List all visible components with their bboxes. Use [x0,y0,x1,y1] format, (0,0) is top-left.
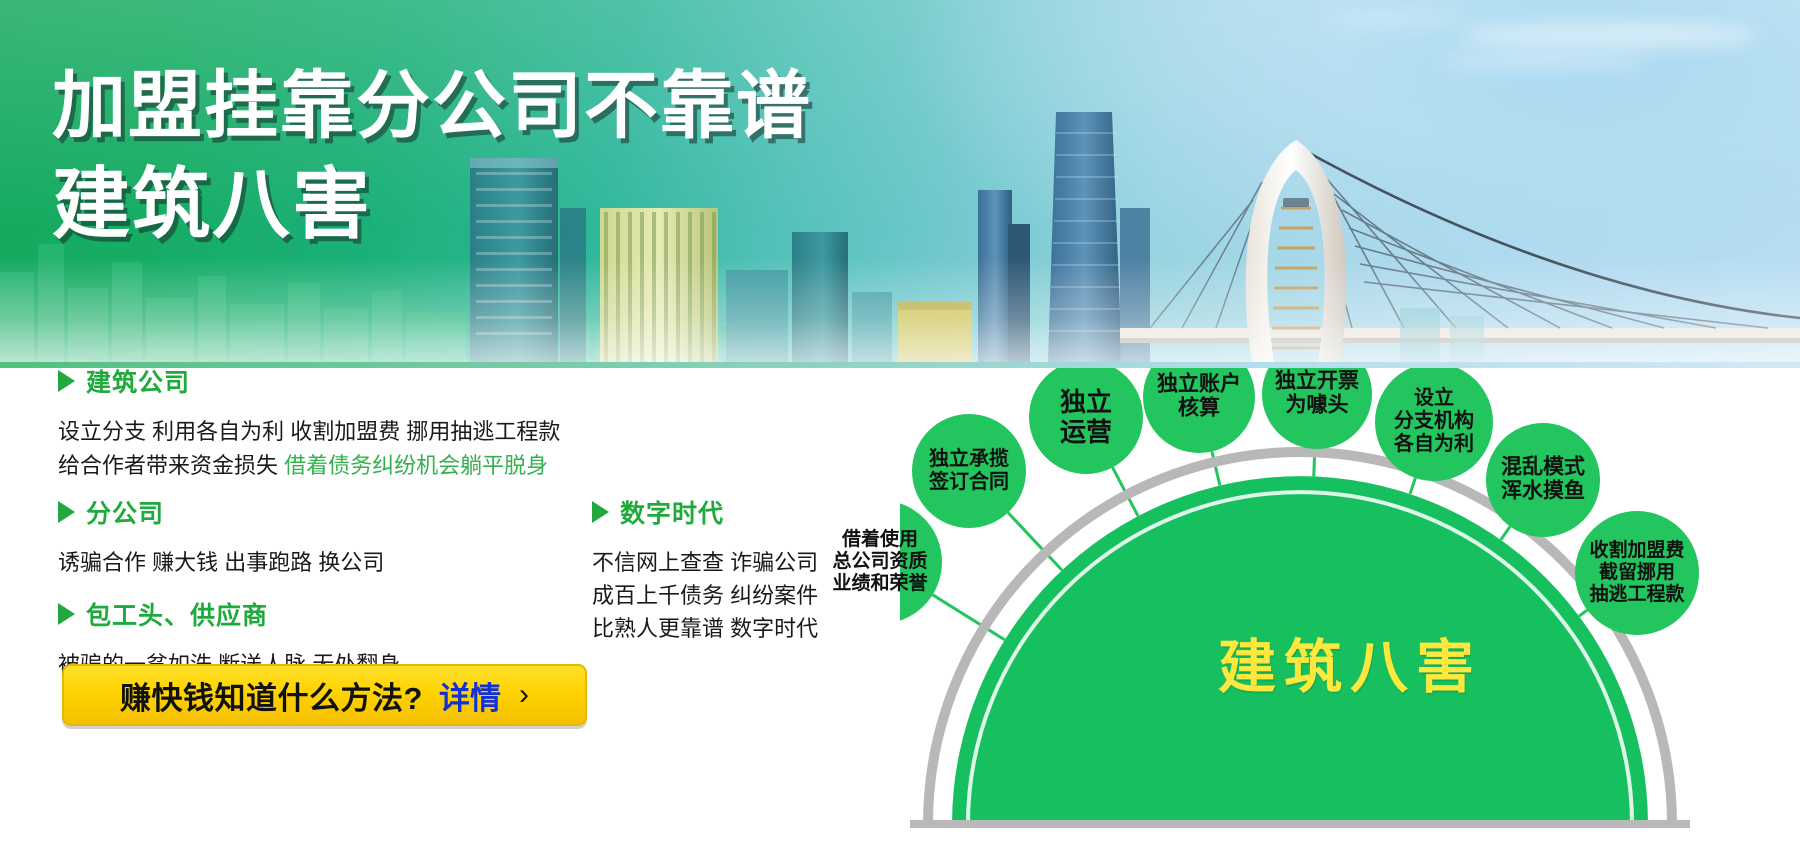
section-title: 数字时代 [620,494,724,530]
hero-banner: 加盟挂靠分公司不靠谱 建筑八害 [0,0,1800,368]
connector-line-b6 [1410,478,1415,494]
cta-label: 赚快钱知道什么方法? [120,673,423,718]
chevron-right-icon: › [519,680,529,710]
body-line: 设立分支 利用各自为利 收割加盟费 挪用抽逃工程款 [58,415,560,449]
section-title: 分公司 [86,494,164,530]
section-body: 不信网上查查 诈骗公司 成百上千债务 纠纷案件 比熟人更靠谱 数字时代 [592,546,818,645]
cta-detail-link[interactable]: 详情 [439,673,501,718]
section-digital-era: 数字时代 不信网上查查 诈骗公司 成百上千债务 纠纷案件 比熟人更靠谱 数字时代 [592,494,818,645]
triangle-bullet-icon [592,501,609,523]
eight-harms-diagram: 借着使用 总公司资质 业绩和荣誉独立承揽 签订合同独立 运营独立账户 核算独立开… [900,368,1800,844]
bubble-b2[interactable] [912,414,1026,528]
cloud-icon [1320,12,1470,26]
poster-root: 加盟挂靠分公司不靠谱 建筑八害 建筑公司 设立分支 利用各自为利 收割加盟费 挪… [0,0,1800,844]
section-title: 建筑公司 [86,363,190,399]
left-content-panel: 建筑公司 设立分支 利用各自为利 收割加盟费 挪用抽逃工程款 给合作者带来资金损… [0,368,900,844]
bubble-b1[interactable] [900,500,942,624]
section-header: 分公司 [58,494,384,530]
section-header: 建筑公司 [58,363,560,399]
body-line: 成百上千债务 纠纷案件 [592,579,818,612]
body-line: 比熟人更靠谱 数字时代 [592,612,818,645]
body-line: 诱骗合作 赚大钱 出事跑路 换公司 [58,546,384,580]
triangle-bullet-icon [58,501,75,523]
triangle-bullet-icon [58,370,75,392]
bubble-b6[interactable] [1375,368,1493,481]
highlighted-phrase: 借着债务纠纷机会躺平脱身 [284,453,548,478]
dome-base-rule [910,820,1690,828]
cloud-icon [1440,52,1650,70]
connector-line-b8 [1579,610,1587,616]
section-branch-company: 分公司 诱骗合作 赚大钱 出事跑路 换公司 [58,494,384,580]
body-line: 不信网上查查 诈骗公司 [592,546,818,579]
bubble-b5[interactable] [1262,368,1372,449]
triangle-bullet-icon [58,603,75,625]
bubble-b3[interactable] [1029,368,1143,474]
section-title: 包工头、供应商 [86,596,268,632]
cloud-icon [1460,22,1760,48]
dome-title: 建筑八害 [1218,620,1482,704]
bubble-b4[interactable] [1143,368,1255,453]
bubble-b7[interactable] [1486,423,1600,537]
diagram-canvas [900,368,1800,844]
section-construction-company: 建筑公司 设立分支 利用各自为利 收割加盟费 挪用抽逃工程款 给合作者带来资金损… [58,363,560,483]
connector-line-b7 [1501,527,1510,540]
hero-title-line1: 加盟挂靠分公司不靠谱 [52,58,812,154]
body-line: 给合作者带来资金损失 借着债务纠纷机会躺平脱身 [58,449,560,483]
hero-title-line2: 建筑八害 [52,154,812,254]
bubble-b8[interactable] [1575,511,1699,635]
cta-button[interactable]: 赚快钱知道什么方法? 详情 › [62,664,587,726]
section-header: 包工头、供应商 [58,596,400,632]
page-title: 加盟挂靠分公司不靠谱 建筑八害 [52,58,812,254]
section-body: 设立分支 利用各自为利 收割加盟费 挪用抽逃工程款 给合作者带来资金损失 借着债… [58,415,560,483]
section-body: 诱骗合作 赚大钱 出事跑路 换公司 [58,546,384,580]
hero-ground-haze [0,258,1800,368]
section-header: 数字时代 [592,494,818,530]
